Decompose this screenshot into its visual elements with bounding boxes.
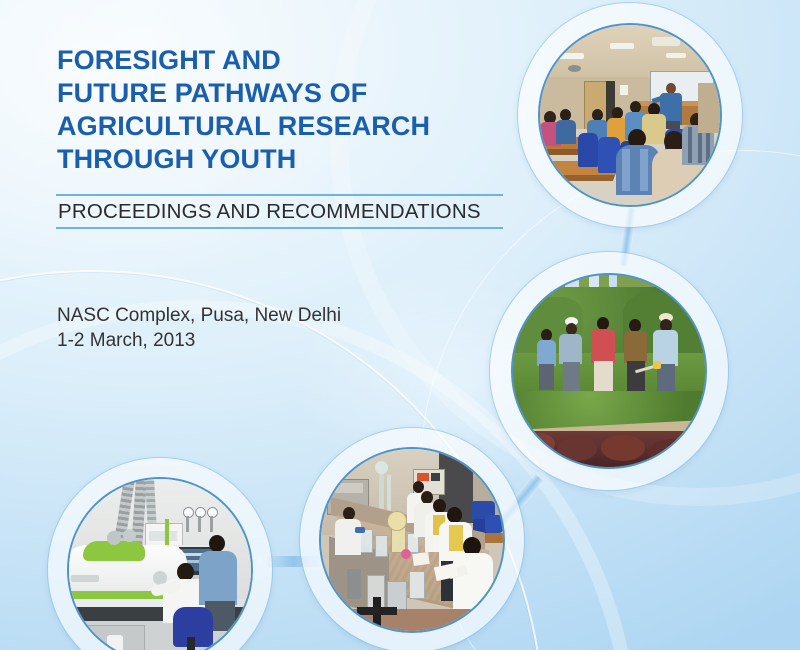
page-subtitle: PROCEEDINGS AND RECOMMENDATIONS [58, 199, 518, 225]
title-line-4: THROUGH YOUTH [57, 143, 517, 176]
photo-circle-seminar [518, 3, 742, 227]
title-line-1: FORESIGHT AND [57, 44, 517, 77]
field-visit-photo [513, 275, 705, 467]
report-cover: FORESIGHT AND FUTURE PATHWAYS OF AGRICUL… [0, 0, 800, 650]
photo-circle-instrument [48, 458, 272, 650]
classroom-seminar-photo [540, 25, 720, 205]
photo-circle-laboratory [300, 428, 524, 650]
subtitle-rule-top [56, 194, 503, 196]
venue-dates: 1-2 March, 2013 [57, 328, 477, 353]
title-line-3: AGRICULTURAL RESEARCH [57, 110, 517, 143]
venue-block: NASC Complex, Pusa, New Delhi 1-2 March,… [57, 303, 477, 353]
laboratory-bench-photo [321, 449, 503, 631]
subtitle-rule-bottom [56, 227, 503, 229]
photo-circle-field [490, 252, 728, 490]
page-title: FORESIGHT AND FUTURE PATHWAYS OF AGRICUL… [57, 44, 517, 176]
venue-location: NASC Complex, Pusa, New Delhi [57, 303, 477, 328]
analytical-instrument-photo [69, 479, 251, 650]
title-line-2: FUTURE PATHWAYS OF [57, 77, 517, 110]
